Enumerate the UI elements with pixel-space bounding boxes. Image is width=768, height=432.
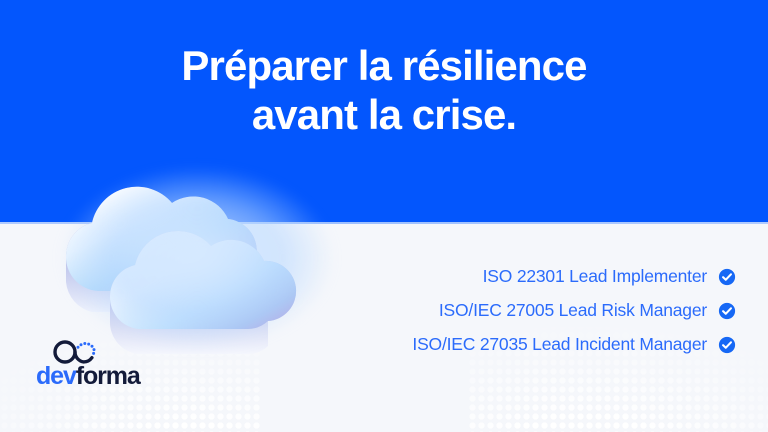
list-item: ISO/IEC 27035 Lead Incident Manager (412, 334, 736, 355)
certification-label: ISO/IEC 27005 Lead Risk Manager (439, 300, 707, 321)
promotional-banner: Préparer la résilience avant la crise. (0, 0, 768, 432)
brand-logo: devforma (36, 340, 144, 392)
logo-word-primary: dev (36, 362, 76, 390)
logo-wordmark: devforma (36, 362, 140, 391)
headline: Préparer la résilience avant la crise. (0, 42, 768, 139)
check-circle-icon (718, 268, 736, 286)
certification-label: ISO 22301 Lead Implementer (483, 266, 707, 287)
logo-word-secondary: forma (76, 362, 140, 390)
isometric-cloud-illustration (52, 160, 342, 360)
check-circle-icon (718, 302, 736, 320)
infinity-loop-icon (53, 340, 105, 364)
list-item: ISO/IEC 27005 Lead Risk Manager (439, 300, 736, 321)
list-item: ISO 22301 Lead Implementer (483, 266, 736, 287)
certification-label: ISO/IEC 27035 Lead Incident Manager (412, 334, 707, 355)
certification-list: ISO 22301 Lead Implementer ISO/IEC 27005… (412, 266, 736, 355)
check-circle-icon (718, 336, 736, 354)
